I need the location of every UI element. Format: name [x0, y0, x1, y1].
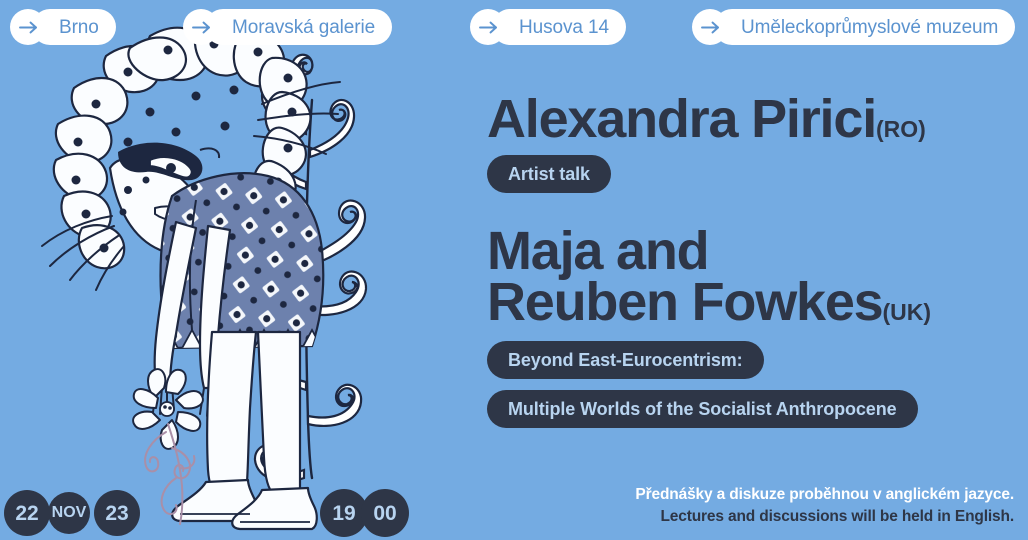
breadcrumb-item-label: Brno [59, 18, 99, 37]
breadcrumb-item-umeleckoprumyslove-muzeum[interactable]: Uměleckoprůmyslové muzeum [692, 9, 1015, 45]
tag-talk-title-line2[interactable]: Multiple Worlds of the Socialist Anthrop… [487, 390, 918, 428]
breadcrumb-label-wrapper: Uměleckoprůmyslové muzeum [714, 9, 1015, 45]
time-minute-badge: 00 [361, 489, 409, 537]
tag-artist-talk[interactable]: Artist talk [487, 155, 611, 193]
arrow-right-icon [470, 9, 506, 45]
breadcrumb-item-brno[interactable]: Brno [10, 9, 116, 45]
bent-over-figure-with-flower-hair-illustration [0, 0, 470, 540]
breadcrumb-item-moravska-galerie[interactable]: Moravská galerie [183, 9, 392, 45]
date-month-badge: NOV [48, 492, 90, 534]
speaker-country-code: (UK) [883, 299, 932, 325]
speaker-name-secondary-line1: Maja and [487, 224, 708, 278]
speaker-name-text: Alexandra Pirici [487, 89, 876, 149]
arrow-right-icon [10, 9, 46, 45]
event-details: Alexandra Pirici(RO) Artist talk Maja an… [487, 0, 1028, 540]
illustration-panel [0, 0, 470, 540]
date-day-start-badge: 22 [4, 490, 50, 536]
date-day-end-badge: 23 [94, 490, 140, 536]
speaker-country-code: (RO) [876, 116, 926, 142]
speaker-name-secondary-line2: Reuben Fowkes(UK) [487, 275, 931, 329]
breadcrumb-item-label: Uměleckoprůmyslové muzeum [741, 18, 998, 37]
breadcrumb: Brno Moravská galerie Husova 14 [0, 9, 1028, 45]
tag-talk-title-line1[interactable]: Beyond East-Eurocentrism: [487, 341, 764, 379]
schedule-badges: 22 NOV 23 19 00 [0, 480, 1028, 540]
arrow-right-icon [183, 9, 219, 45]
breadcrumb-label-wrapper: Moravská galerie [205, 9, 392, 45]
speaker-name-text: Reuben Fowkes [487, 272, 883, 332]
breadcrumb-item-label: Moravská galerie [232, 18, 375, 37]
arrow-right-icon [692, 9, 728, 45]
legs-and-trousers [207, 332, 300, 494]
speaker-name-primary: Alexandra Pirici(RO) [487, 92, 926, 146]
breadcrumb-item-label: Husova 14 [519, 18, 609, 37]
breadcrumb-label-wrapper: Husova 14 [492, 9, 626, 45]
breadcrumb-item-husova-14[interactable]: Husova 14 [470, 9, 626, 45]
poster-canvas: Brno Moravská galerie Husova 14 [0, 0, 1028, 540]
